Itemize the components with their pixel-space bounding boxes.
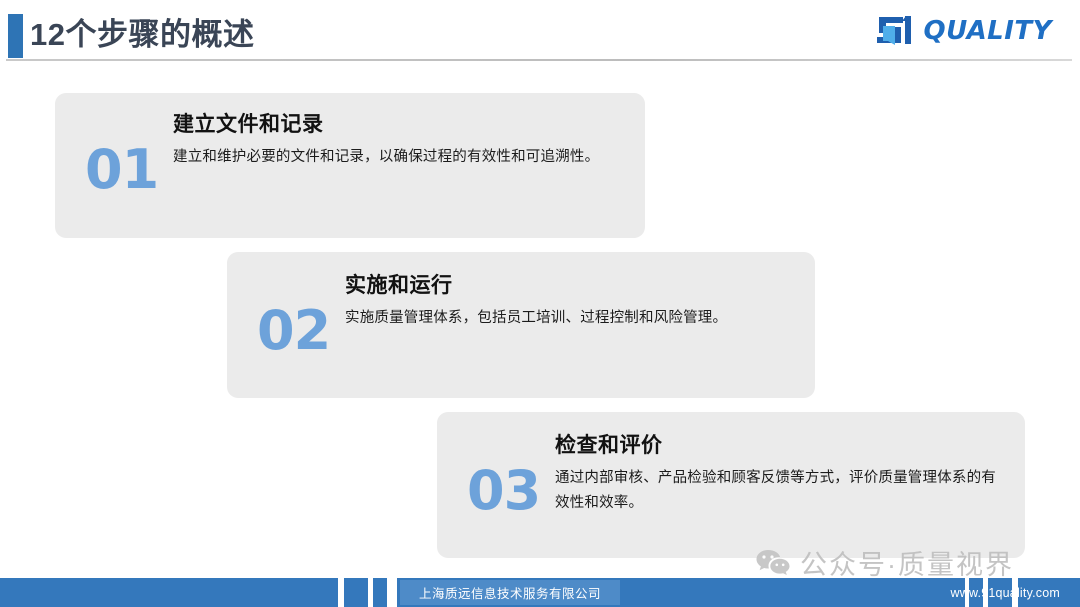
slide-footer: 上海质远信息技术服务有限公司 www.91quality.com bbox=[0, 578, 1080, 607]
step-number: 03 bbox=[467, 464, 540, 518]
step-description: 建立和维护必要的文件和记录，以确保过程的有效性和可追溯性。 bbox=[173, 145, 623, 170]
footer-bar-segment bbox=[373, 578, 387, 607]
footer-url: www.91quality.com bbox=[951, 578, 1060, 607]
footer-bar-segment bbox=[0, 578, 338, 607]
footer-bar-segment bbox=[344, 578, 368, 607]
step-number: 02 bbox=[257, 304, 330, 358]
step-content: 检查和评价 通过内部审核、产品检验和顾客反馈等方式，评价质量管理体系的有效性和效… bbox=[555, 434, 1007, 517]
step-number: 01 bbox=[85, 143, 158, 197]
page-title: 12个步骤的概述 bbox=[30, 13, 254, 57]
step-description: 实施质量管理体系，包括员工培训、过程控制和风险管理。 bbox=[345, 306, 795, 331]
step-content: 建立文件和记录 建立和维护必要的文件和记录，以确保过程的有效性和可追溯性。 bbox=[173, 113, 623, 170]
step-title: 建立文件和记录 bbox=[173, 113, 623, 136]
step-description: 通过内部审核、产品检验和顾客反馈等方式，评价质量管理体系的有效性和效率。 bbox=[555, 466, 1007, 517]
slide-header: 12个步骤的概述 QUALITY bbox=[0, 0, 1080, 62]
step-card-02: 02 实施和运行 实施质量管理体系，包括员工培训、过程控制和风险管理。 bbox=[227, 252, 815, 398]
step-title: 实施和运行 bbox=[345, 274, 795, 297]
logo-91-icon bbox=[875, 12, 917, 50]
logo-text: QUALITY bbox=[924, 16, 1052, 46]
header-divider bbox=[6, 59, 1072, 61]
wechat-icon bbox=[756, 548, 790, 578]
step-card-01: 01 建立文件和记录 建立和维护必要的文件和记录，以确保过程的有效性和可追溯性。 bbox=[55, 93, 645, 238]
step-title: 检查和评价 bbox=[555, 434, 1007, 457]
watermark: 公众号·质量视界 bbox=[756, 543, 1014, 582]
step-content: 实施和运行 实施质量管理体系，包括员工培训、过程控制和风险管理。 bbox=[345, 274, 795, 331]
footer-company-name: 上海质远信息技术服务有限公司 bbox=[400, 580, 620, 605]
brand-logo: QUALITY bbox=[875, 11, 1052, 51]
step-card-03: 03 检查和评价 通过内部审核、产品检验和顾客反馈等方式，评价质量管理体系的有效… bbox=[437, 412, 1025, 558]
watermark-text: 公众号·质量视界 bbox=[800, 543, 1014, 582]
title-accent-bar bbox=[8, 14, 23, 58]
